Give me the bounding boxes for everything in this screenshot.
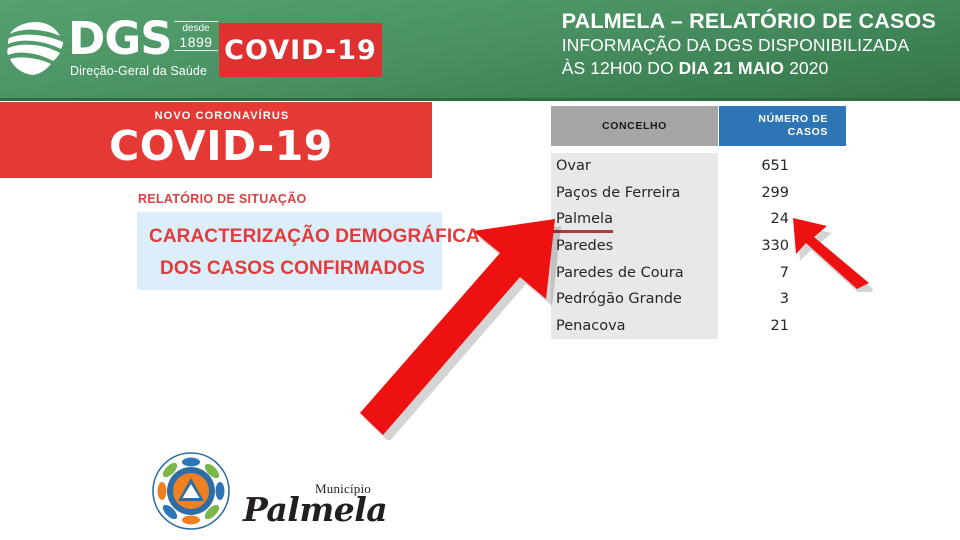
table-cell-casos-value: 3 <box>780 291 789 307</box>
dgs-wordmark: DGS <box>68 16 172 62</box>
table-cell-concelho-label: Paços de Ferreira <box>556 185 680 201</box>
table-cell-casos: 21 <box>719 313 793 340</box>
table-cell-concelho: Paredes de Coura <box>551 259 718 286</box>
table-cell-casos: 24 <box>719 206 793 233</box>
table-cell-casos: 7 <box>719 259 793 286</box>
table-cell-concelho: Paços de Ferreira <box>551 180 718 207</box>
table-cell-concelho-label: Palmela <box>556 211 613 227</box>
table-cell-concelho-label: Pedrógão Grande <box>556 291 682 307</box>
table-cell-concelho-label: Paredes <box>556 238 613 254</box>
table-row: Pedrógão Grande 3 <box>551 286 846 313</box>
table-cell-casos-value: 651 <box>761 158 789 174</box>
report-heading-line-2: DOS CASOS CONFIRMADOS <box>160 258 425 280</box>
table-row-palmela-highlighted: Palmela 24 <box>551 206 846 233</box>
dgs-logo: DGS desde 1899 Direção-Geral da Saúde <box>6 14 236 86</box>
column-header-concelho-label: CONCELHO <box>602 120 667 132</box>
table-cell-casos-value: 299 <box>761 185 789 201</box>
table-row: Ovar 651 <box>551 153 846 180</box>
table-cell-concelho-label: Ovar <box>556 158 591 174</box>
table-cell-casos-value: 24 <box>771 211 789 227</box>
dgs-since-label: desde <box>182 23 209 34</box>
cases-table-body: Ovar 651 Paços de Ferreira 299 Palmela 2… <box>551 153 846 339</box>
column-header-concelho: CONCELHO <box>551 106 718 146</box>
column-header-numero-casos-line-2: CASOS <box>788 126 828 139</box>
column-header-numero-casos: NÚMERO DE CASOS <box>719 106 846 146</box>
banner-kicker: NOVO CORONAVÍRUS <box>0 110 432 122</box>
table-cell-casos-value: 21 <box>771 318 789 334</box>
dgs-globe-icon <box>6 20 68 78</box>
table-cell-concelho: Palmela <box>551 206 718 233</box>
covid19-header-chip: COVID-19 <box>219 23 382 77</box>
column-header-numero-casos-line-1: NÚMERO DE <box>758 113 828 126</box>
civil-protection-emblem-icon <box>151 451 231 531</box>
header-title-line-1: PALMELA – RELATÓRIO DE CASOS <box>562 8 936 34</box>
banner-title: COVID-19 <box>0 122 432 170</box>
report-heading-line-1: CARACTERIZAÇÃO DEMOGRÁFICA <box>149 226 480 248</box>
table-cell-concelho-label: Penacova <box>556 318 626 334</box>
dgs-since-badge: desde 1899 <box>174 21 218 51</box>
table-cell-casos: 3 <box>719 286 793 313</box>
covid19-header-chip-label: COVID-19 <box>224 35 377 66</box>
header-title-line-3-prefix: ÀS 12H00 DO <box>562 58 679 78</box>
table-row: Paços de Ferreira 299 <box>551 180 846 207</box>
table-cell-casos: 299 <box>719 180 793 207</box>
cases-table-header-row: CONCELHO NÚMERO DE CASOS <box>551 106 846 146</box>
municipality-logo: Município Palmela <box>243 481 393 529</box>
header-title-line-3-year: 2020 <box>784 58 828 78</box>
table-cell-casos: 651 <box>719 153 793 180</box>
table-cell-concelho: Paredes <box>551 233 718 260</box>
report-kicker: RELATÓRIO DE SITUAÇÃO <box>138 192 307 206</box>
cases-table: CONCELHO NÚMERO DE CASOS Ovar 651 Paços … <box>551 106 846 146</box>
covid19-red-banner: NOVO CORONAVÍRUS COVID-19 <box>0 102 432 178</box>
page-header: DGS desde 1899 Direção-Geral da Saúde CO… <box>0 0 960 101</box>
header-title-line-3-date: DIA 21 MAIO <box>679 58 784 78</box>
table-cell-casos-value: 330 <box>761 238 789 254</box>
table-row: Penacova 21 <box>551 313 846 340</box>
municipality-name: Palmela <box>243 493 387 527</box>
table-cell-casos-value: 7 <box>780 265 789 281</box>
table-cell-concelho-label: Paredes de Coura <box>556 265 684 281</box>
table-cell-casos: 330 <box>719 233 793 260</box>
header-title-line-3: ÀS 12H00 DO DIA 21 MAIO 2020 <box>562 57 936 80</box>
dgs-since-year: 1899 <box>174 35 218 50</box>
table-cell-concelho: Pedrógão Grande <box>551 286 718 313</box>
dgs-subtitle: Direção-Geral da Saúde <box>70 64 207 78</box>
table-cell-concelho: Ovar <box>551 153 718 180</box>
table-row: Paredes 330 <box>551 233 846 260</box>
header-title-line-2: INFORMAÇÃO DA DGS DISPONIBILIZADA <box>562 34 936 57</box>
table-cell-concelho: Penacova <box>551 313 718 340</box>
table-row: Paredes de Coura 7 <box>551 259 846 286</box>
report-header-title: PALMELA – RELATÓRIO DE CASOS INFORMAÇÃO … <box>562 8 936 80</box>
